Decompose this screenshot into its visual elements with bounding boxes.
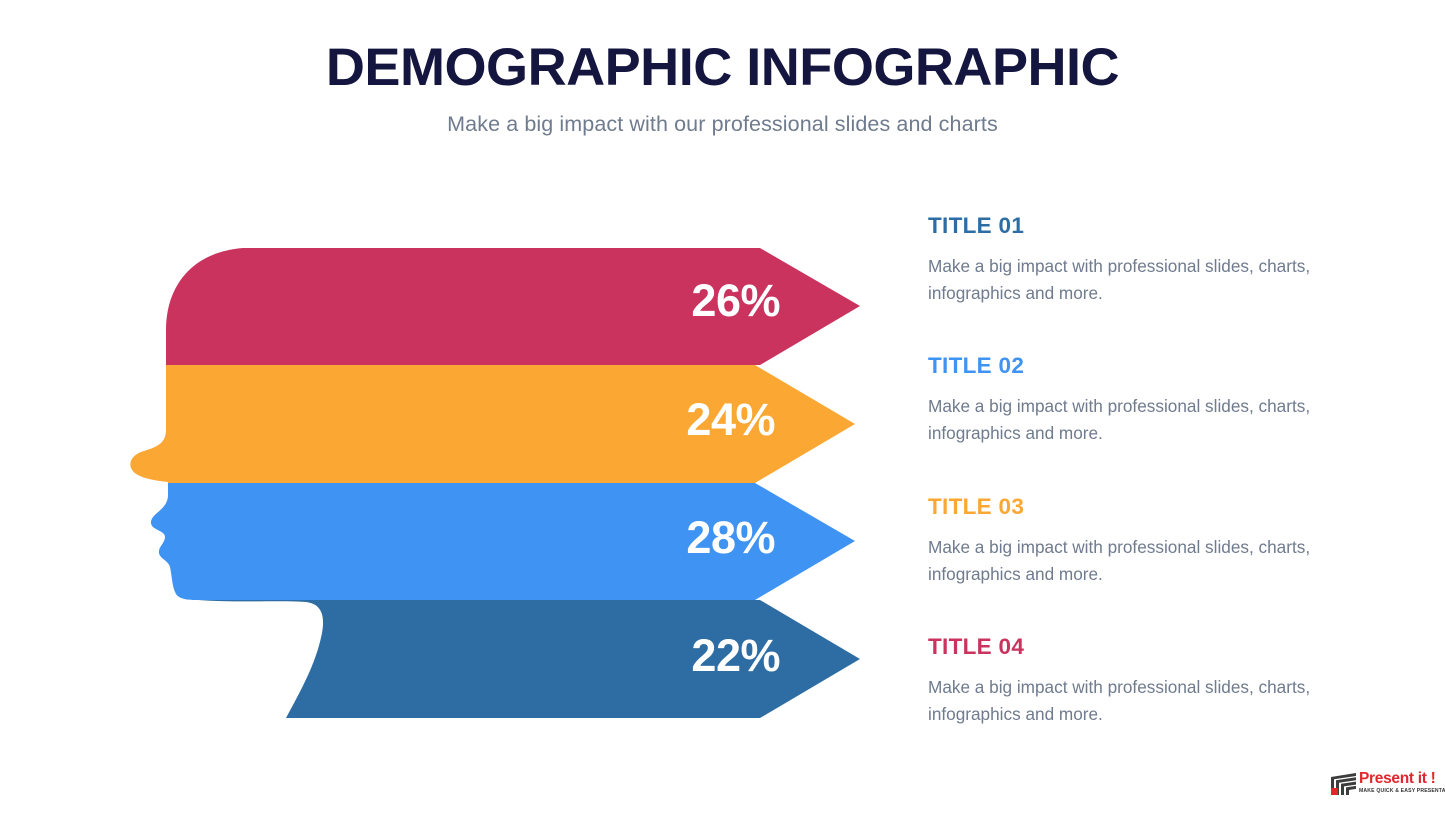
logo-tagline: MAKE QUICK & EASY PRESENTATIONS xyxy=(1359,788,1445,794)
item-desc-03: Make a big impact with professional slid… xyxy=(928,534,1320,590)
item-title-02: TITLE 02 xyxy=(928,355,1320,378)
item-desc-04: Make a big impact with professional slid… xyxy=(928,674,1320,730)
slide-canvas: DEMOGRAPHIC INFOGRAPHIC Make a big impac… xyxy=(0,0,1445,813)
list-item-01[interactable]: TITLE 01 Make a big impact with professi… xyxy=(928,215,1320,308)
band-value-3: 28% xyxy=(515,512,775,564)
item-title-01: TITLE 01 xyxy=(928,215,1320,238)
band-value-2: 24% xyxy=(515,394,775,446)
band-value-1: 26% xyxy=(520,275,780,327)
brand-logo[interactable]: Present it ! MAKE QUICK & EASY PRESENTAT… xyxy=(1331,770,1431,802)
item-title-04: TITLE 04 xyxy=(928,636,1320,659)
item-desc-01: Make a big impact with professional slid… xyxy=(928,253,1320,309)
item-title-03: TITLE 03 xyxy=(928,496,1320,519)
logo-name: Present it ! xyxy=(1359,770,1436,788)
list-item-02[interactable]: TITLE 02 Make a big impact with professi… xyxy=(928,355,1320,448)
item-desc-02: Make a big impact with professional slid… xyxy=(928,393,1320,449)
list-item-03[interactable]: TITLE 03 Make a big impact with professi… xyxy=(928,496,1320,589)
band-value-4: 22% xyxy=(520,630,780,682)
bar-chart-logo-icon xyxy=(1331,773,1356,795)
list-item-04[interactable]: TITLE 04 Make a big impact with professi… xyxy=(928,636,1320,729)
